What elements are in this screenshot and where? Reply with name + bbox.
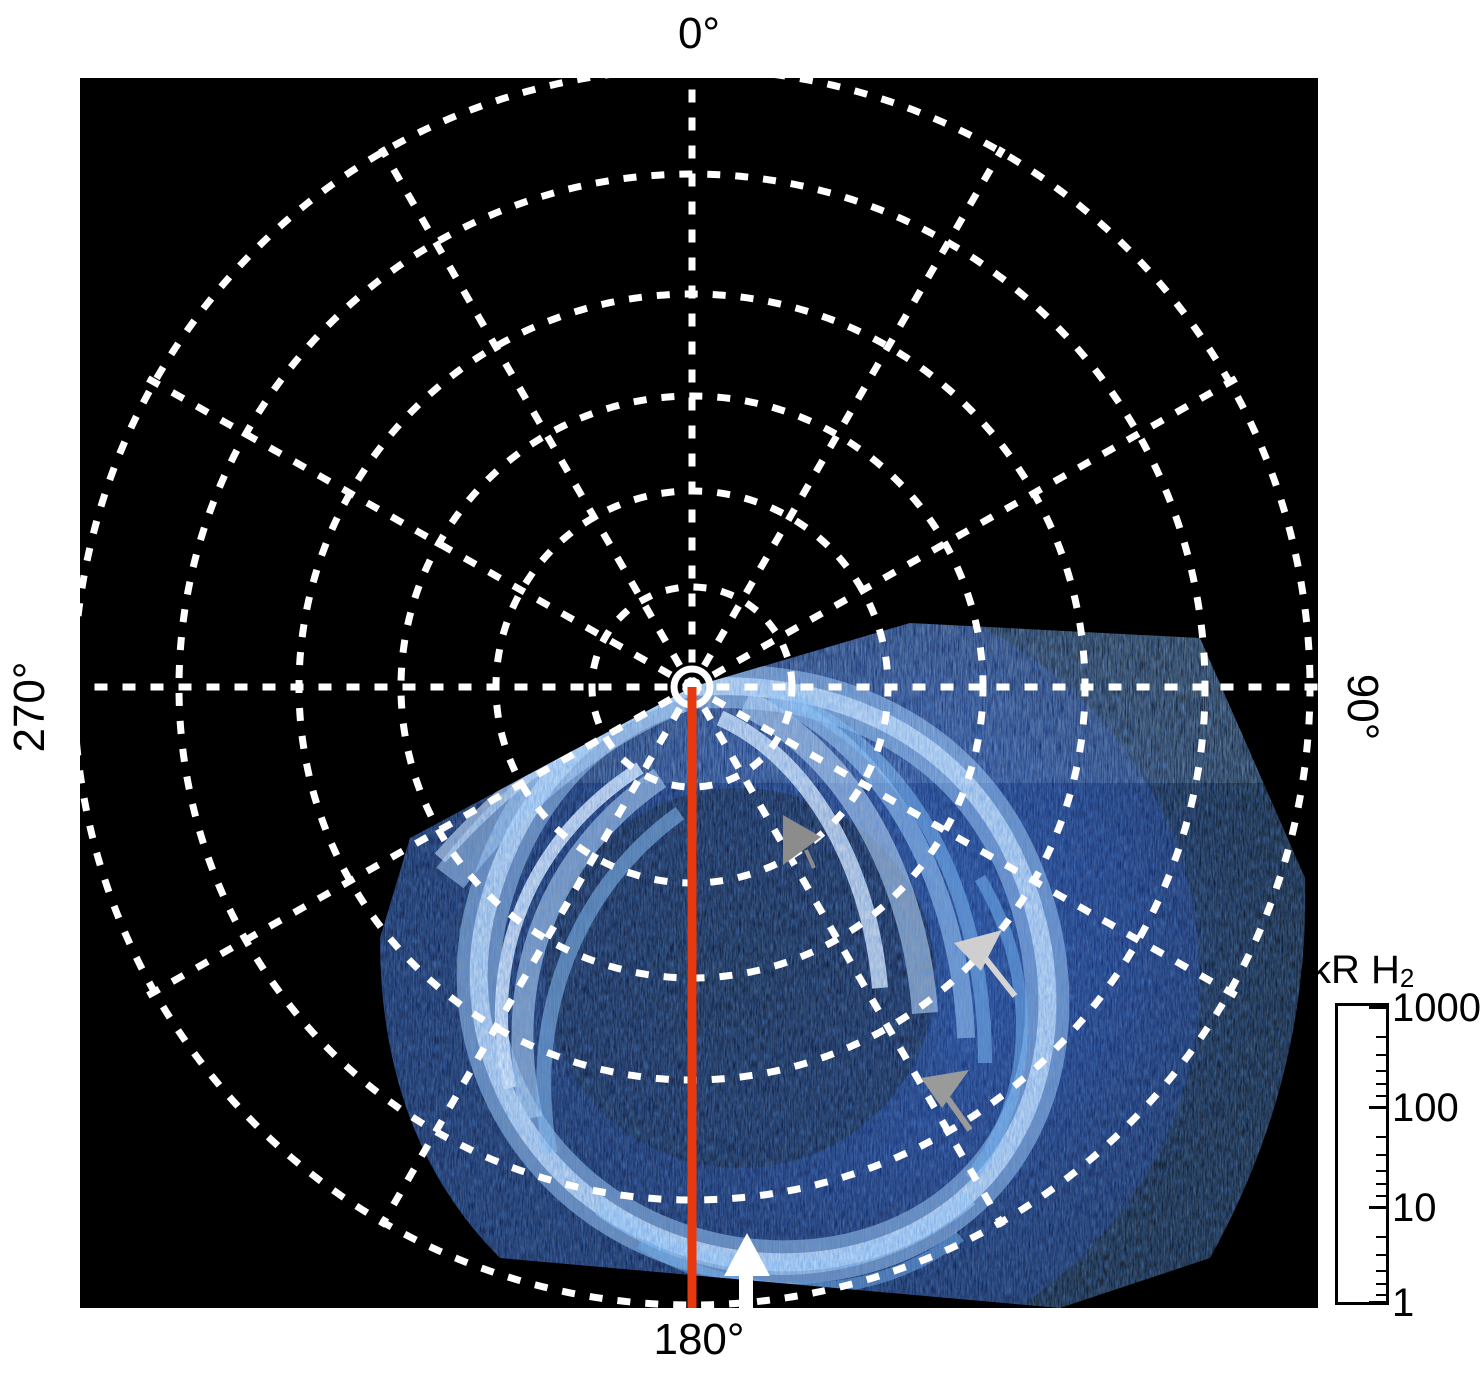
colorbar-label-1: 1 bbox=[1392, 1283, 1414, 1323]
colorbar-minor-tick bbox=[1376, 1136, 1388, 1138]
axis-label-180deg: 180° bbox=[0, 1318, 1398, 1362]
colorbar-label-10: 10 bbox=[1392, 1188, 1437, 1228]
aurora-polar-figure: 0° 180° 270° 90° bbox=[0, 0, 1481, 1386]
polar-plot-svg bbox=[80, 78, 1318, 1308]
colorbar-minor-tick bbox=[1376, 1170, 1388, 1172]
polar-plot-panel bbox=[80, 78, 1318, 1308]
colorbar-minor-tick bbox=[1376, 1183, 1388, 1185]
colorbar-minor-tick bbox=[1376, 1036, 1388, 1038]
colorbar-tick-1000 bbox=[1369, 1006, 1388, 1009]
colorbar-label-100: 100 bbox=[1392, 1088, 1459, 1128]
axis-label-0deg: 0° bbox=[0, 12, 1398, 56]
colorbar-minor-tick bbox=[1376, 1083, 1388, 1085]
colorbar-tick-10 bbox=[1369, 1206, 1388, 1209]
colorbar-minor-tick bbox=[1376, 1294, 1388, 1296]
colorbar-minor-tick bbox=[1376, 1270, 1388, 1272]
colorbar-minor-tick bbox=[1376, 1054, 1388, 1056]
aurora-emission-data bbox=[360, 548, 1318, 1308]
colorbar-minor-tick bbox=[1376, 1154, 1388, 1156]
colorbar-minor-tick bbox=[1376, 1095, 1388, 1097]
colorbar-minor-tick bbox=[1376, 1070, 1388, 1072]
colorbar-title-text: kR H bbox=[1311, 948, 1400, 992]
colorbar-tick-100 bbox=[1369, 1106, 1388, 1109]
colorbar-minor-tick bbox=[1376, 1195, 1388, 1197]
colorbar-tick-1 bbox=[1369, 1301, 1388, 1304]
colorbar-minor-tick bbox=[1376, 1283, 1388, 1285]
axis-label-90deg: 90° bbox=[1340, 617, 1384, 797]
colorbar-minor-tick bbox=[1376, 1236, 1388, 1238]
colorbar-label-1000: 1000 bbox=[1392, 988, 1481, 1028]
axis-label-270deg: 270° bbox=[8, 617, 52, 797]
colorbar-minor-tick bbox=[1376, 1254, 1388, 1256]
